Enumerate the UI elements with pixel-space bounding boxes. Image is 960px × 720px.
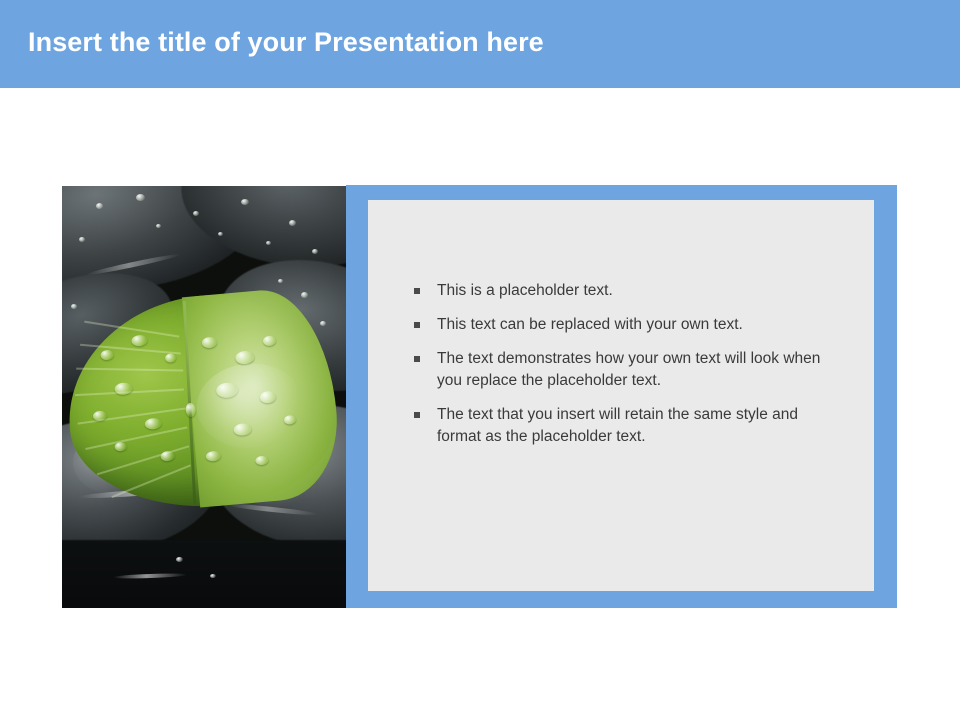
list-item: This text can be replaced with your own … bbox=[413, 314, 833, 336]
list-item: The text demonstrates how your own text … bbox=[413, 348, 833, 392]
content-panel-frame: This is a placeholder text. This text ca… bbox=[346, 185, 897, 608]
water-droplet bbox=[114, 442, 127, 452]
water-droplet bbox=[144, 417, 162, 429]
water-droplet bbox=[241, 199, 249, 205]
water-droplet bbox=[131, 334, 148, 346]
content-panel: This is a placeholder text. This text ca… bbox=[368, 200, 874, 591]
water-droplet bbox=[114, 382, 133, 396]
list-item: This is a placeholder text. bbox=[413, 280, 833, 302]
square-bullet-icon bbox=[414, 288, 420, 294]
leaf-on-stones-photo bbox=[62, 186, 346, 608]
water-droplet bbox=[165, 353, 177, 363]
water-droplet bbox=[301, 292, 308, 298]
water-droplet bbox=[160, 450, 175, 461]
square-bullet-icon bbox=[414, 322, 420, 328]
list-item-text: The text that you insert will retain the… bbox=[437, 406, 798, 445]
presentation-slide: Insert the title of your Presentation he… bbox=[0, 0, 960, 720]
list-item: The text that you insert will retain the… bbox=[413, 404, 833, 448]
list-item-text: This is a placeholder text. bbox=[437, 282, 613, 299]
square-bullet-icon bbox=[414, 412, 420, 418]
leaf-vein-line bbox=[76, 367, 183, 370]
list-item-text: This text can be replaced with your own … bbox=[437, 316, 743, 333]
bullet-list: This is a placeholder text. This text ca… bbox=[413, 280, 833, 448]
stone-shadow bbox=[62, 540, 346, 608]
water-droplet bbox=[100, 350, 114, 361]
slide-title: Insert the title of your Presentation he… bbox=[28, 27, 544, 58]
water-droplet bbox=[71, 304, 77, 309]
leaf-vein-line bbox=[111, 464, 191, 497]
list-item-text: The text demonstrates how your own text … bbox=[437, 350, 820, 389]
water-droplet bbox=[79, 237, 85, 242]
square-bullet-icon bbox=[414, 356, 420, 362]
slide-title-bar: Insert the title of your Presentation he… bbox=[0, 0, 960, 88]
water-droplet bbox=[92, 410, 107, 421]
water-droplet bbox=[96, 203, 103, 209]
leaf-vein-line bbox=[85, 426, 187, 449]
photo-canvas bbox=[62, 186, 346, 608]
water-droplet bbox=[289, 220, 296, 226]
water-droplet bbox=[278, 279, 283, 283]
water-droplet bbox=[156, 224, 161, 228]
